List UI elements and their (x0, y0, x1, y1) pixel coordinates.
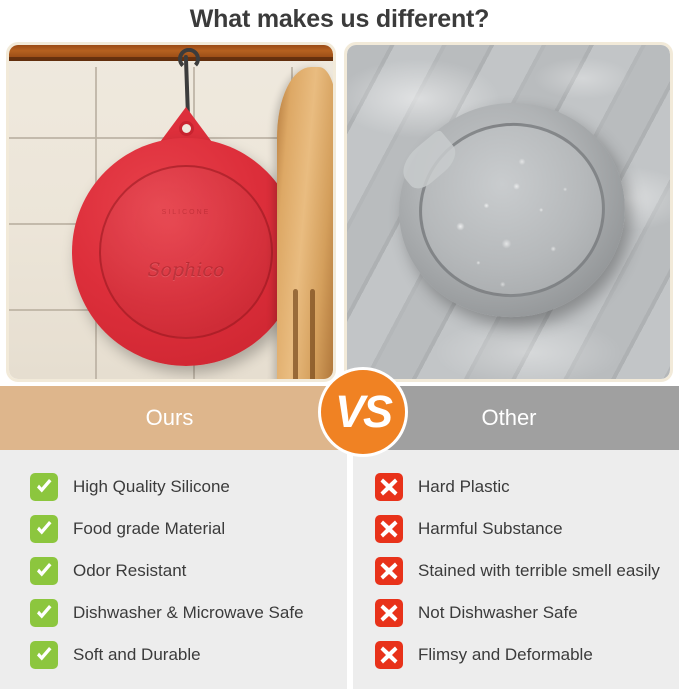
list-item-label: High Quality Silicone (73, 477, 230, 497)
cross-icon (375, 557, 403, 585)
feature-lists: High Quality Silicone Food grade Materia… (0, 450, 679, 689)
feature-list-ours: High Quality Silicone Food grade Materia… (0, 450, 347, 689)
cross-icon (375, 641, 403, 669)
check-icon (30, 515, 58, 543)
list-item-label: Soft and Durable (73, 645, 201, 665)
list-item-label: Hard Plastic (418, 477, 510, 497)
band-label-ours: Ours (0, 386, 339, 450)
panel-ours-image: SILICONE Sophico (6, 42, 336, 382)
list-item-label: Flimsy and Deformable (418, 645, 593, 665)
cross-icon (375, 473, 403, 501)
list-item: Soft and Durable (30, 634, 347, 676)
list-item: Food grade Material (30, 508, 347, 550)
list-item: Dishwasher & Microwave Safe (30, 592, 347, 634)
list-item: Harmful Substance (375, 508, 679, 550)
check-icon (30, 641, 58, 669)
check-icon (30, 599, 58, 627)
wooden-shelf (9, 45, 333, 61)
list-item: Stained with terrible smell easily (375, 550, 679, 592)
vs-badge: VS (318, 367, 408, 457)
product-photo-ours: SILICONE Sophico (9, 45, 333, 379)
wooden-spatula (277, 67, 333, 379)
product-photo-other (347, 45, 671, 379)
page-title: What makes us different? (0, 2, 679, 36)
red-silicone-trivet: SILICONE Sophico (72, 138, 300, 366)
image-panels: SILICONE Sophico (6, 42, 673, 382)
panel-other-image (344, 42, 674, 382)
list-item-label: Food grade Material (73, 519, 225, 539)
check-icon (30, 473, 58, 501)
list-item: Not Dishwasher Safe (375, 592, 679, 634)
cross-icon (375, 515, 403, 543)
trivet-small-mark: SILICONE (101, 209, 271, 216)
check-icon (30, 557, 58, 585)
list-item-label: Stained with terrible smell easily (418, 561, 660, 581)
feature-list-other: Hard Plastic Harmful Substance Stained w… (347, 450, 679, 689)
list-item-label: Dishwasher & Microwave Safe (73, 603, 304, 623)
list-item: Hard Plastic (375, 466, 679, 508)
list-item-label: Harmful Substance (418, 519, 563, 539)
cross-icon (375, 599, 403, 627)
list-item-label: Not Dishwasher Safe (418, 603, 578, 623)
comparison-infographic: What makes us different? SILICONE Sophic… (0, 0, 679, 689)
list-item: High Quality Silicone (30, 466, 347, 508)
trivet-inner-ring: SILICONE Sophico (99, 165, 273, 339)
list-item-label: Odor Resistant (73, 561, 186, 581)
trivet-eyelet (179, 121, 194, 136)
list-item: Odor Resistant (30, 550, 347, 592)
trivet-brand-mark: Sophico (101, 259, 271, 281)
list-item: Flimsy and Deformable (375, 634, 679, 676)
